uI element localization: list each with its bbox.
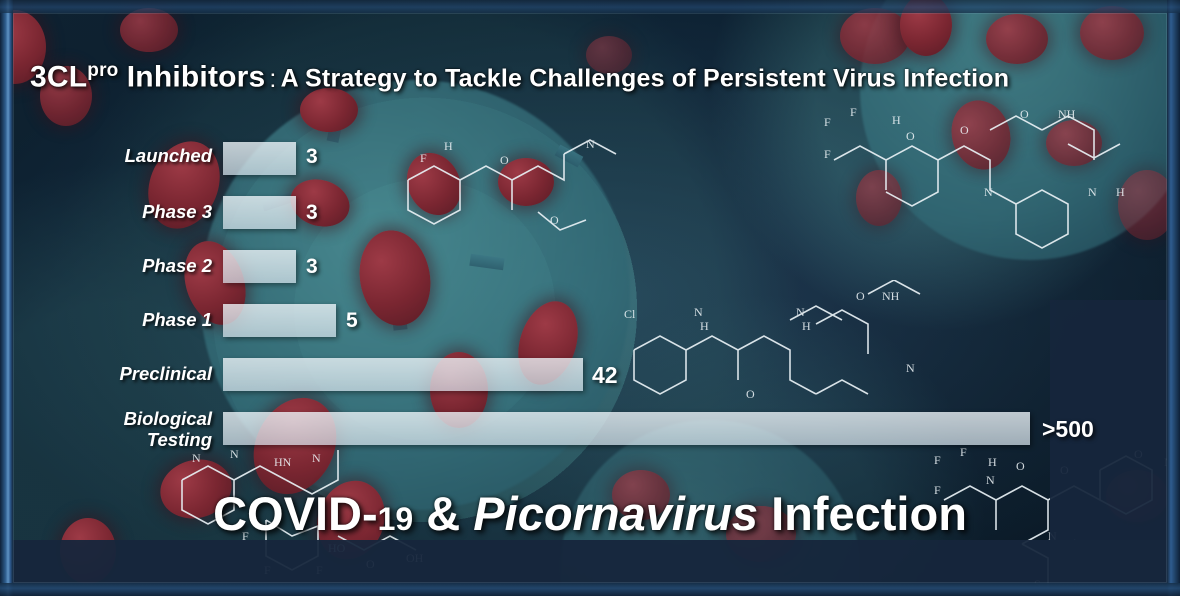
svg-text:O: O [1060, 463, 1069, 477]
spike-head [840, 8, 910, 64]
bar-preclinical [223, 358, 583, 391]
bar-label-phase-1: Phase 1 [60, 310, 212, 330]
svg-text:N: N [986, 473, 995, 487]
pipeline-bar-chart: Launched 3 Phase 3 3 Phase 2 3 Phase 1 5… [0, 130, 1180, 460]
footer-picornavirus: Picornavirus [473, 487, 758, 540]
bar-phase-2 [223, 250, 296, 283]
title-main: Inhibitors [127, 61, 266, 94]
svg-text:NH: NH [1058, 107, 1076, 121]
svg-text:H: H [892, 113, 901, 127]
bar-label-preclinical: Preclinical [60, 364, 212, 384]
bar-phase-3 [223, 196, 296, 229]
svg-text:O: O [1020, 107, 1029, 121]
bar-label-phase-3: Phase 3 [60, 202, 212, 222]
svg-text:O: O [366, 557, 375, 571]
chart-row: Biological Testing >500 [0, 412, 1180, 456]
bar-label-line-2: Testing [60, 429, 212, 450]
svg-text:O: O [1016, 459, 1025, 473]
page-title: 3CLpro Inhibitors:A Strategy to Tackle C… [30, 60, 1160, 95]
bar-value-launched: 3 [306, 145, 318, 169]
chart-row: Phase 3 3 [0, 196, 1180, 240]
chart-row: Preclinical 42 [0, 358, 1180, 402]
footer-dash: - [362, 487, 378, 540]
svg-text:N: N [1142, 539, 1151, 553]
footer-infection: Infection [771, 487, 967, 540]
bar-label-phase-2: Phase 2 [60, 256, 212, 276]
bar-value-preclinical: 42 [592, 362, 618, 389]
footer-covid: COVID [213, 487, 362, 540]
chart-row: Launched 3 [0, 142, 1180, 186]
chart-row: Phase 1 5 [0, 304, 1180, 348]
spike-head [1080, 6, 1144, 60]
svg-text:F: F [316, 563, 323, 577]
spike-head [986, 14, 1048, 64]
title-subtitle: A Strategy to Tackle Challenges of Persi… [281, 65, 1010, 93]
title-mark: 3CL [30, 61, 87, 94]
footer-ampersand: & [426, 487, 460, 540]
spike-head [120, 8, 178, 52]
svg-text:S: S [1100, 571, 1107, 585]
svg-text:OH: OH [406, 551, 424, 565]
bar-launched [223, 142, 296, 175]
svg-text:F: F [264, 563, 271, 577]
title-superscript: pro [87, 60, 118, 81]
chart-row: Phase 2 3 [0, 250, 1180, 294]
bar-value-phase-3: 3 [306, 201, 318, 225]
bar-label-biological-testing: Biological Testing [60, 408, 212, 450]
footer-nineteen: 19 [378, 501, 414, 537]
bar-label-line-1: Biological [60, 408, 212, 429]
svg-text:S: S [1034, 577, 1041, 590]
infographic-stage: FH OO N FFF HO ON ONH NH ClNH ONH ONH N [0, 0, 1180, 596]
footer-title: COVID-19 & Picornavirus Infection [0, 486, 1180, 541]
bar-value-phase-2: 3 [306, 255, 318, 279]
svg-text:F: F [850, 105, 857, 119]
svg-text:F: F [824, 115, 831, 129]
bar-value-biological-testing: >500 [1042, 416, 1094, 443]
title-colon: : [265, 65, 280, 93]
bar-label-launched: Launched [60, 146, 212, 166]
bar-biological-testing [223, 412, 1030, 445]
bar-value-phase-1: 5 [346, 309, 358, 333]
svg-text:HO: HO [328, 541, 346, 555]
bar-phase-1 [223, 304, 336, 337]
